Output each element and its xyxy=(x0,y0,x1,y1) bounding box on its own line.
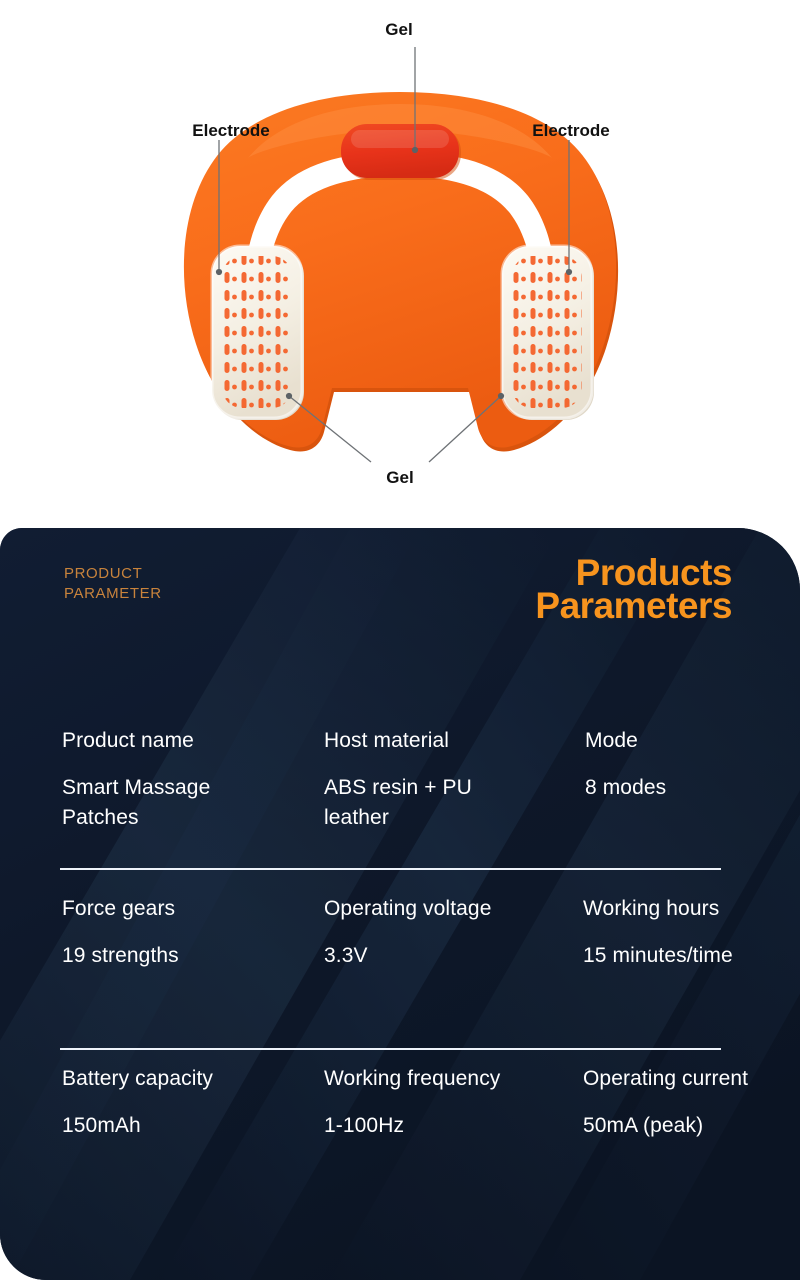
kicker-line-1: PRODUCT xyxy=(64,564,162,584)
device-illustration xyxy=(0,0,800,518)
spec-value: 1-100Hz xyxy=(324,1111,574,1141)
spec-cell: Battery capacity 150mAh xyxy=(62,1066,312,1141)
spec-row: Product name Smart MassagePatches Host m… xyxy=(0,728,800,896)
callout-gel-bottom: Gel xyxy=(386,468,413,488)
callout-electrode-right: Electrode xyxy=(532,121,609,141)
spec-cell: Mode 8 modes xyxy=(585,728,800,803)
spec-label: Operating current xyxy=(583,1066,798,1092)
spec-table: Product name Smart MassagePatches Host m… xyxy=(0,728,800,1206)
spec-cell: Force gears 19 strengths xyxy=(62,896,312,971)
kicker-line-2: PARAMETER xyxy=(64,584,162,604)
spec-value: 50mA (peak) xyxy=(583,1111,798,1141)
spec-cell: Working hours 15 minutes/time xyxy=(583,896,798,971)
row-divider xyxy=(60,1048,721,1050)
product-diagram: Gel Electrode Electrode Gel xyxy=(0,0,800,518)
spec-label: Product name xyxy=(62,728,312,754)
spec-label: Working frequency xyxy=(324,1066,574,1092)
spec-value: 150mAh xyxy=(62,1111,312,1141)
spec-cell: Operating current 50mA (peak) xyxy=(583,1066,798,1141)
spec-value: 3.3V xyxy=(324,941,574,971)
spec-value: ABS resin + PUleather xyxy=(324,773,574,833)
spec-label: Host material xyxy=(324,728,574,754)
spec-cell: Working frequency 1-100Hz xyxy=(324,1066,574,1141)
spec-cell: Operating voltage 3.3V xyxy=(324,896,574,971)
callout-gel-top: Gel xyxy=(385,20,412,40)
spec-label: Working hours xyxy=(583,896,798,922)
product-page: Gel Electrode Electrode Gel xyxy=(0,0,800,1280)
spec-cell: Product name Smart MassagePatches xyxy=(62,728,312,833)
spec-label: Force gears xyxy=(62,896,312,922)
panel-kicker: PRODUCT PARAMETER xyxy=(64,564,162,604)
spec-value: 19 strengths xyxy=(62,941,312,971)
panel-title-line-2: Parameters xyxy=(535,589,732,622)
panel-title: Products Parameters xyxy=(535,556,732,622)
row-divider xyxy=(60,868,721,870)
spec-label: Battery capacity xyxy=(62,1066,312,1092)
spec-value: 8 modes xyxy=(585,773,800,803)
spec-row: Force gears 19 strengths Operating volta… xyxy=(0,896,800,1066)
spec-cell: Host material ABS resin + PUleather xyxy=(324,728,574,833)
electrode-pad-right xyxy=(502,246,594,420)
spec-value: 15 minutes/time xyxy=(583,941,798,971)
spec-value: Smart MassagePatches xyxy=(62,773,312,833)
center-button xyxy=(341,124,461,180)
spec-label: Operating voltage xyxy=(324,896,574,922)
spec-row: Battery capacity 150mAh Working frequenc… xyxy=(0,1066,800,1206)
callout-electrode-left: Electrode xyxy=(192,121,269,141)
spec-label: Mode xyxy=(585,728,800,754)
